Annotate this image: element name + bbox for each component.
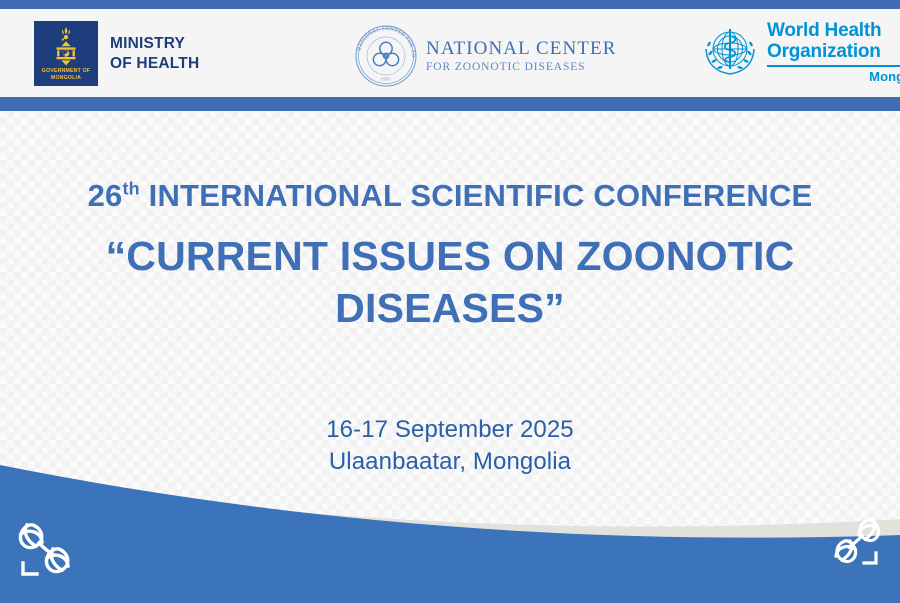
who-name-line2: Organization	[767, 41, 900, 62]
who-name-line1: World Health	[767, 20, 900, 41]
who-divider-rule	[767, 65, 900, 67]
conference-edition-heading: 26th INTERNATIONAL SCIENTIFIC CONFERENCE	[0, 178, 900, 214]
logo-national-center-zoonotic-diseases: NATIONAL CENTER FOR ZOONOTIC DISEASES 19…	[352, 22, 616, 90]
nczd-name: NATIONAL CENTER FOR ZOONOTIC DISEASES	[426, 38, 616, 75]
moh-emblem-caption: GOVERNMENT OF MONGOLIA	[34, 68, 98, 82]
conference-theme-title: “CURRENT ISSUES ON ZOONOTIC DISEASES”	[50, 230, 850, 334]
mongolian-knot-ornament-right	[814, 513, 886, 573]
conference-dates: 16-17 September 2025	[0, 414, 900, 446]
nczd-name-line2: FOR ZOONOTIC DISEASES	[426, 60, 616, 75]
moh-name: MINISTRY OF HEALTH	[110, 34, 199, 74]
bottom-wave-decoration	[0, 443, 900, 603]
nczd-name-line1: NATIONAL CENTER	[426, 38, 616, 60]
theme-title-line1: “CURRENT ISSUES ON ZOONOTIC	[50, 230, 850, 282]
edition-rest: INTERNATIONAL SCIENTIFIC CONFERENCE	[140, 178, 813, 213]
soyombo-emblem-icon	[49, 27, 83, 67]
svg-text:NATIONAL CENTER FOR ZOONOTIC D: NATIONAL CENTER FOR ZOONOTIC DISEASES	[352, 22, 416, 58]
svg-text:1951: 1951	[381, 77, 392, 82]
mongolian-knot-ornament-left	[12, 515, 98, 585]
edition-ordinal: th	[122, 179, 139, 199]
who-country-label: Mongolia	[767, 69, 900, 84]
moh-name-line1: MINISTRY	[110, 34, 199, 54]
moh-emblem-box: GOVERNMENT OF MONGOLIA	[34, 21, 98, 86]
conference-title-slide: GOVERNMENT OF MONGOLIA MINISTRY OF HEALT…	[0, 0, 900, 603]
logo-world-health-organization: World Health Organization Mongolia	[700, 20, 900, 84]
who-rod-of-asclepius-icon	[700, 22, 760, 82]
header-divider-bar	[0, 97, 900, 111]
edition-number: 26	[88, 178, 123, 213]
moh-name-line2: OF HEALTH	[110, 54, 199, 74]
who-name: World Health Organization Mongolia	[767, 20, 900, 84]
top-accent-bar	[0, 0, 900, 9]
theme-title-line2: DISEASES”	[50, 282, 850, 334]
biohazard-seal-icon: NATIONAL CENTER FOR ZOONOTIC DISEASES 19…	[352, 22, 420, 90]
logo-ministry-of-health: GOVERNMENT OF MONGOLIA MINISTRY OF HEALT…	[34, 21, 199, 86]
